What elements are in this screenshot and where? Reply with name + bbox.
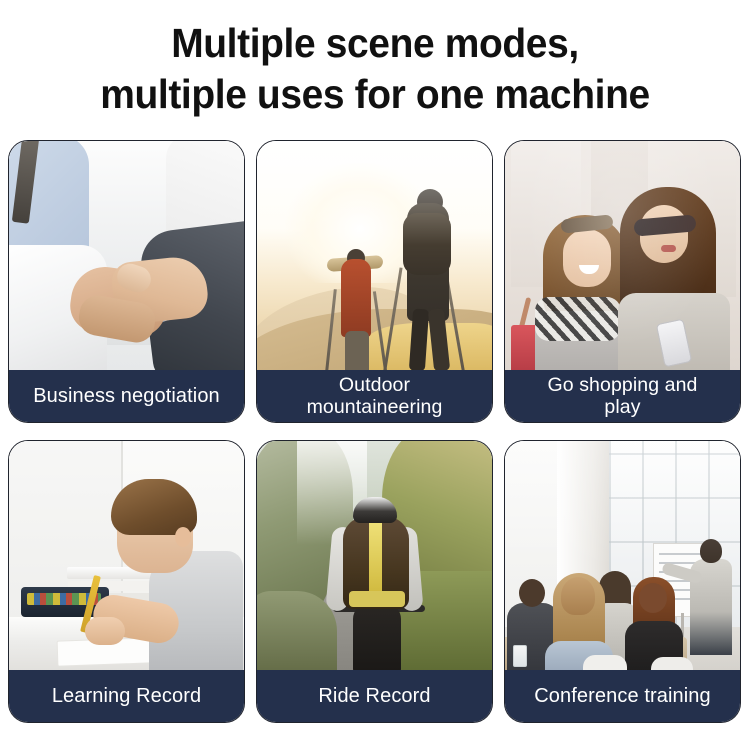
soft-light-overlay xyxy=(505,141,740,372)
boy-hand xyxy=(85,617,125,645)
scene-card-label: Go shopping and play xyxy=(505,370,740,422)
window-light-overlay xyxy=(505,441,740,672)
page-title: Multiple scene modes, multiple uses for … xyxy=(19,18,732,120)
scene-card-learning-record[interactable]: Learning Record xyxy=(8,440,245,723)
photo-conference-training xyxy=(505,441,740,672)
helmet-icon xyxy=(353,497,397,523)
scene-mode-grid: Business negotiation xyxy=(8,140,742,723)
photo-go-shopping-and-play xyxy=(505,141,740,372)
photo-outdoor-mountaineering xyxy=(257,141,492,372)
scene-card-business-negotiation[interactable]: Business negotiation xyxy=(8,140,245,423)
reflective-stripe xyxy=(369,519,382,597)
boy-ear xyxy=(175,527,191,547)
grass-verge-left xyxy=(257,591,337,672)
scene-card-ride-record[interactable]: Ride Record xyxy=(256,440,493,723)
cyclist-legs xyxy=(353,603,401,672)
scene-card-label: Conference training xyxy=(505,670,740,722)
scene-card-label: Business negotiation xyxy=(9,370,244,422)
scene-card-outdoor-mountaineering[interactable]: Outdoor mountaineering xyxy=(256,140,493,423)
backpack-waist-strap xyxy=(349,591,405,607)
scene-card-label: Learning Record xyxy=(9,670,244,722)
scene-card-conference-training[interactable]: Conference training xyxy=(504,440,741,723)
sun-haze-overlay xyxy=(257,141,492,372)
photo-business-negotiation xyxy=(9,141,244,372)
promo-page: Multiple scene modes, multiple uses for … xyxy=(0,0,750,750)
scene-card-go-shopping-and-play[interactable]: Go shopping and play xyxy=(504,140,741,423)
photo-ride-record xyxy=(257,441,492,672)
scene-card-label: Outdoor mountaineering xyxy=(257,370,492,422)
photo-learning-record xyxy=(9,441,244,672)
scene-card-label: Ride Record xyxy=(257,670,492,722)
